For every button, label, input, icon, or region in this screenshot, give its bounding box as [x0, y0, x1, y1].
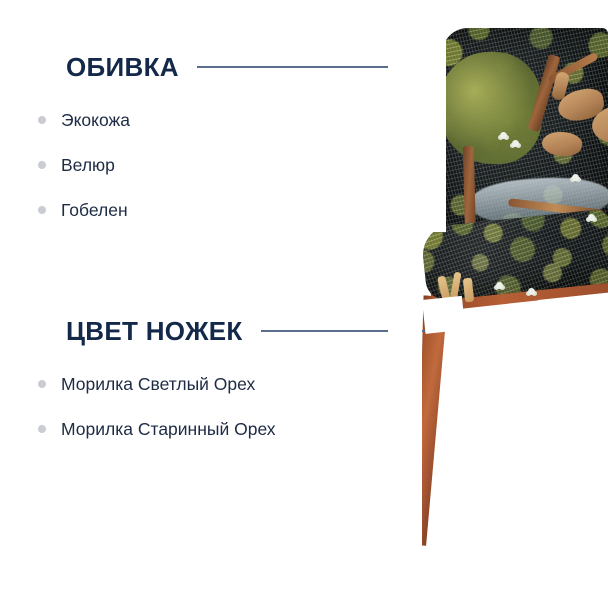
tapestry-flower [588, 214, 595, 221]
bullet-icon [38, 116, 46, 124]
list-item[interactable]: Экокожа [38, 106, 420, 134]
bullet-icon [38, 425, 46, 433]
tapestry-tree-canopy [442, 52, 542, 164]
tapestry-flower [496, 282, 503, 289]
option-label: Морилка Старинный Орех [61, 415, 276, 443]
chair-backrest-upholstery [442, 28, 608, 240]
bullet-icon [38, 161, 46, 169]
tapestry-flower [512, 140, 519, 147]
photo-mask [388, 330, 422, 608]
tapestry-deer-fawn [541, 130, 583, 158]
heading-row-upholstery: ОБИВКА [0, 52, 420, 82]
photo-mask [422, 296, 465, 334]
section-upholstery: ОБИВКА Экокожа Велюр Гобелен [0, 52, 420, 241]
bullet-icon [38, 206, 46, 214]
section-leg-color: ЦВЕТ НОЖЕК Морилка Светлый Орех Морилка … [0, 316, 420, 460]
chair-photo [388, 0, 608, 608]
list-item[interactable]: Велюр [38, 151, 420, 179]
tapestry-flower [528, 288, 535, 295]
option-list-leg-color: Морилка Светлый Орех Морилка Старинный О… [0, 370, 420, 443]
photo-mask [388, 0, 446, 232]
option-list-upholstery: Экокожа Велюр Гобелен [0, 106, 420, 224]
heading-row-leg-color: ЦВЕТ НОЖЕК [0, 316, 420, 346]
option-label: Морилка Светлый Орех [61, 370, 255, 398]
tapestry-flower [572, 174, 579, 181]
photo-mask [448, 330, 608, 608]
section-heading-upholstery: ОБИВКА [66, 52, 179, 82]
list-item[interactable]: Морилка Светлый Орех [38, 370, 420, 398]
bullet-icon [38, 380, 46, 388]
tapestry-flower [500, 132, 507, 139]
list-item[interactable]: Гобелен [38, 196, 420, 224]
option-label: Экокожа [61, 106, 130, 134]
promo-slide: ОБИВКА Экокожа Велюр Гобелен ЦВЕТ НОЖЕК [0, 0, 608, 608]
option-label: Гобелен [61, 196, 128, 224]
list-item[interactable]: Морилка Старинный Орех [38, 415, 420, 443]
section-heading-leg-color: ЦВЕТ НОЖЕК [66, 316, 243, 346]
option-label: Велюр [61, 151, 115, 179]
